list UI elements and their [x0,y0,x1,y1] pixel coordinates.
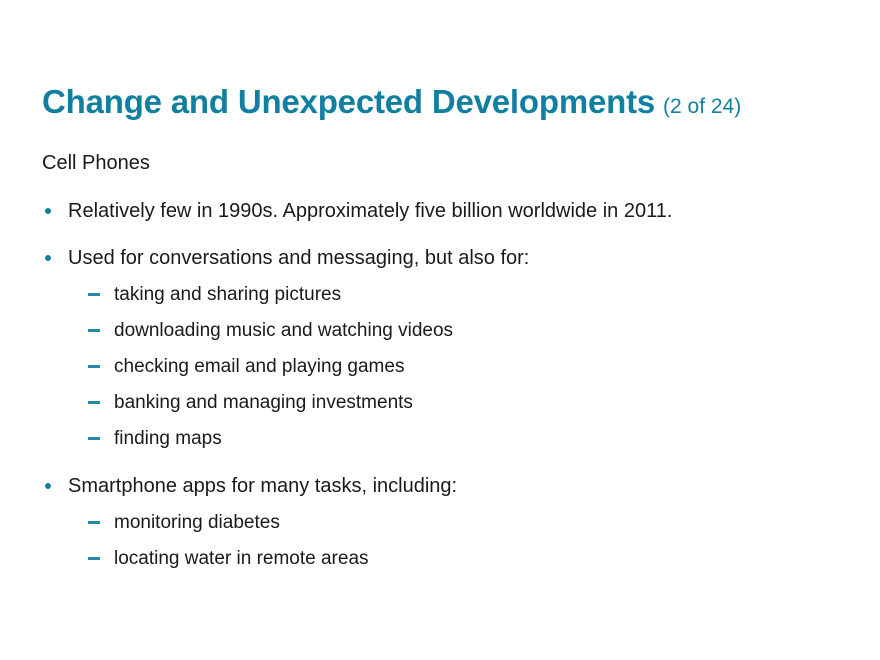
bullet-dot-icon [45,255,51,261]
bullet-label: Used for conversations and messaging, bu… [68,245,529,271]
spacer [0,379,880,390]
bullet-item: Used for conversations and messaging, bu… [42,245,880,271]
sub-bullet-item: finding maps [88,426,880,451]
dash-marker-icon [88,437,100,440]
spacer [0,415,880,426]
bullet-label: Relatively few in 1990s. Approximately f… [68,198,672,224]
presentation-slide: Change and Unexpected Developments(2 of … [0,0,880,660]
page-title: Change and Unexpected Developments(2 of … [42,83,862,121]
sub-bullet-item: checking email and playing games [88,354,880,379]
bullet-label: Smartphone apps for many tasks, includin… [68,473,457,499]
slide-page-counter: (2 of 24) [663,95,741,118]
dash-marker-icon [88,365,100,368]
bullet-dot-icon [45,208,51,214]
slide-title-text: Change and Unexpected Developments [42,83,655,120]
sub-bullet-item: downloading music and watching videos [88,318,880,343]
sub-bullet-item: banking and managing investments [88,390,880,415]
bullet-dot-icon [45,483,51,489]
sub-bullet-label: monitoring diabetes [114,510,280,535]
spacer [0,499,880,510]
bullet-item: Smartphone apps for many tasks, includin… [42,473,880,499]
section-heading: Cell Phones [42,150,880,176]
sub-bullet-label: banking and managing investments [114,390,413,415]
sub-bullet-label: downloading music and watching videos [114,318,453,343]
sub-bullet-item: locating water in remote areas [88,546,880,571]
dash-marker-icon [88,521,100,524]
sub-bullet-item: taking and sharing pictures [88,282,880,307]
sub-bullet-label: finding maps [114,426,222,451]
spacer [0,343,880,354]
spacer [0,307,880,318]
sub-bullet-item: monitoring diabetes [88,510,880,535]
dash-marker-icon [88,557,100,560]
dash-marker-icon [88,293,100,296]
spacer [0,535,880,546]
bullet-item: Relatively few in 1990s. Approximately f… [42,198,880,224]
dash-marker-icon [88,401,100,404]
spacer [0,224,880,245]
sub-bullet-label: checking email and playing games [114,354,404,379]
dash-marker-icon [88,329,100,332]
sub-bullet-label: locating water in remote areas [114,546,369,571]
slide-body: Cell Phones Relatively few in 1990s. App… [0,150,880,571]
sub-bullet-label: taking and sharing pictures [114,282,341,307]
spacer [0,451,880,473]
spacer [0,271,880,282]
spacer [0,176,880,198]
